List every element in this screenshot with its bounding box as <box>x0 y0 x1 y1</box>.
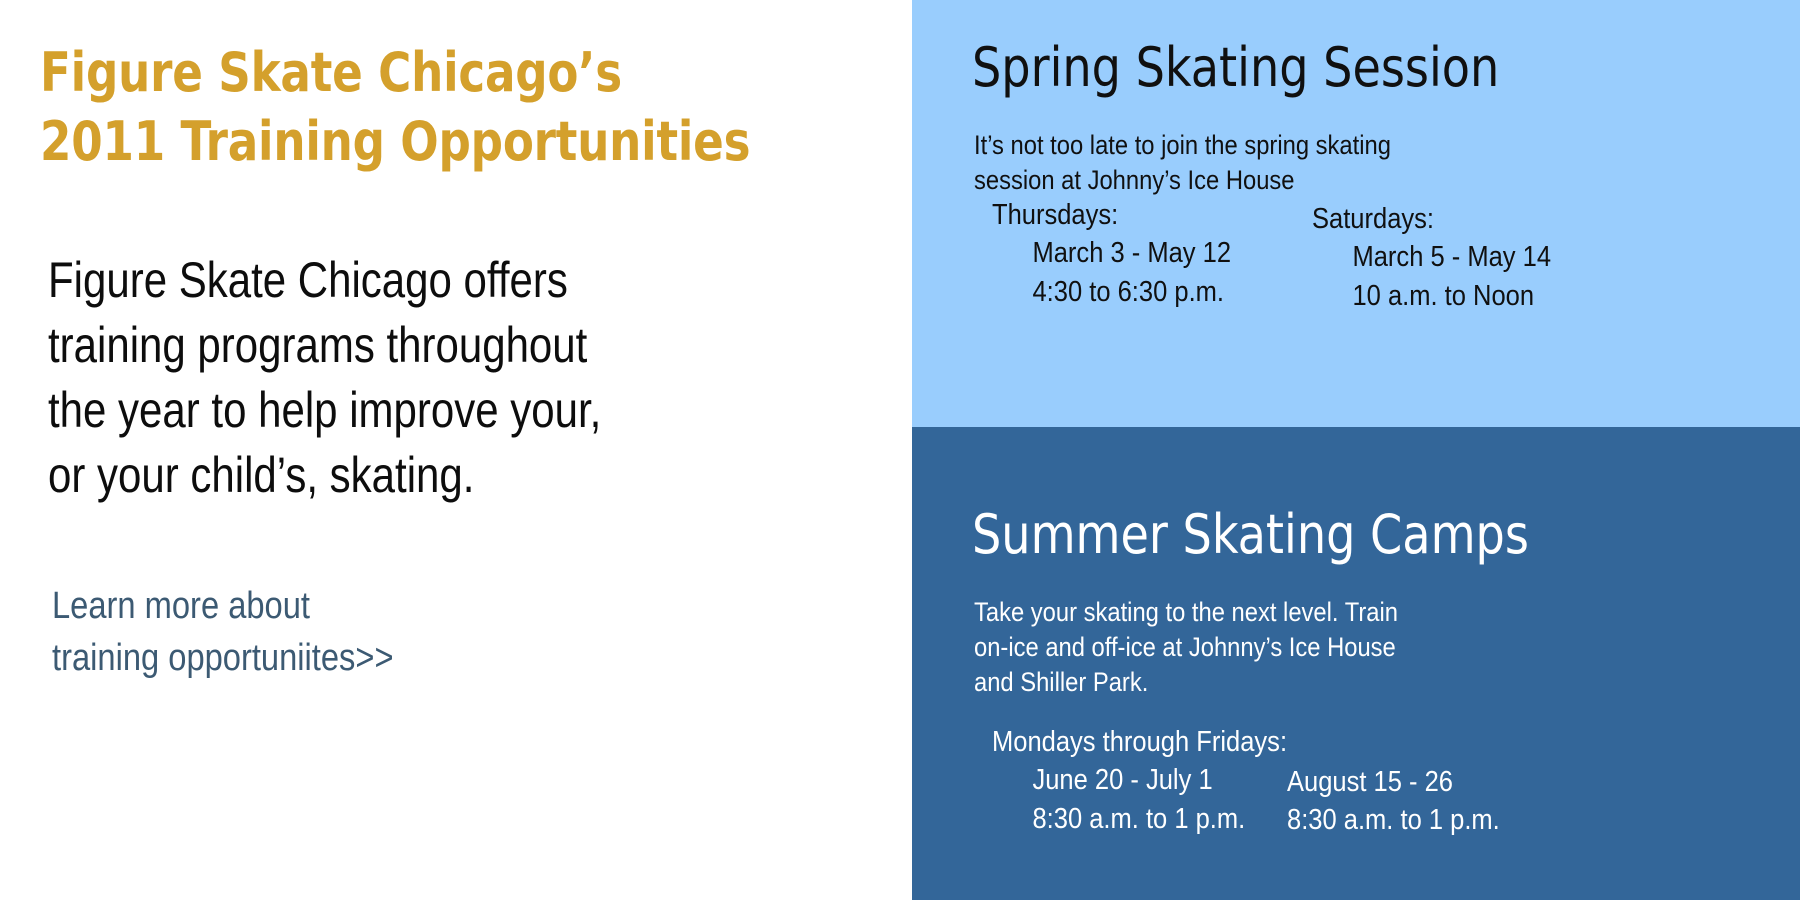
schedule-dates: March 3 - May 12 <box>992 234 1231 272</box>
schedule-days-label: Mondays through Fridays: <box>992 723 1287 761</box>
schedule-dates: March 5 - May 14 <box>1312 238 1551 276</box>
intro-panel: Figure Skate Chicago’s 2011 Training Opp… <box>0 0 912 900</box>
page-title: Figure Skate Chicago’s 2011 Training Opp… <box>40 38 821 176</box>
summer-camps-panel: Summer Skating Camps Take your skating t… <box>912 427 1800 900</box>
spring-schedule-thursdays: Thursdays: March 3 - May 12 4:30 to 6:30… <box>992 196 1231 311</box>
schedule-times: 4:30 to 6:30 p.m. <box>992 273 1231 311</box>
summer-schedule-session-two: August 15 - 26 8:30 a.m. to 1 p.m. <box>1287 763 1500 840</box>
summer-schedule-session-one: Mondays through Fridays: June 20 - July … <box>992 723 1287 838</box>
spring-session-description: It’s not too late to join the spring ska… <box>974 128 1608 198</box>
schedule-times: 8:30 a.m. to 1 p.m. <box>1287 801 1500 839</box>
schedule-times: 10 a.m. to Noon <box>1312 277 1551 315</box>
schedule-days-label: Saturdays: <box>1312 200 1551 238</box>
spring-session-panel: Spring Skating Session It’s not too late… <box>912 0 1800 427</box>
promo-banner: Figure Skate Chicago’s 2011 Training Opp… <box>0 0 1800 900</box>
spring-session-title: Spring Skating Session <box>972 40 1499 97</box>
summer-camps-title: Summer Skating Camps <box>972 507 1529 564</box>
schedule-dates: August 15 - 26 <box>1287 763 1500 801</box>
learn-more-link[interactable]: Learn more about training opportuniites>… <box>52 580 654 685</box>
schedule-times: 8:30 a.m. to 1 p.m. <box>992 800 1287 838</box>
spring-schedule-saturdays: Saturdays: March 5 - May 14 10 a.m. to N… <box>1312 200 1551 315</box>
summer-camps-description: Take your skating to the next level. Tra… <box>974 595 1608 700</box>
intro-paragraph: Figure Skate Chicago offers training pro… <box>48 248 720 508</box>
schedule-days-label: Thursdays: <box>992 196 1231 234</box>
schedule-dates: June 20 - July 1 <box>992 761 1287 799</box>
